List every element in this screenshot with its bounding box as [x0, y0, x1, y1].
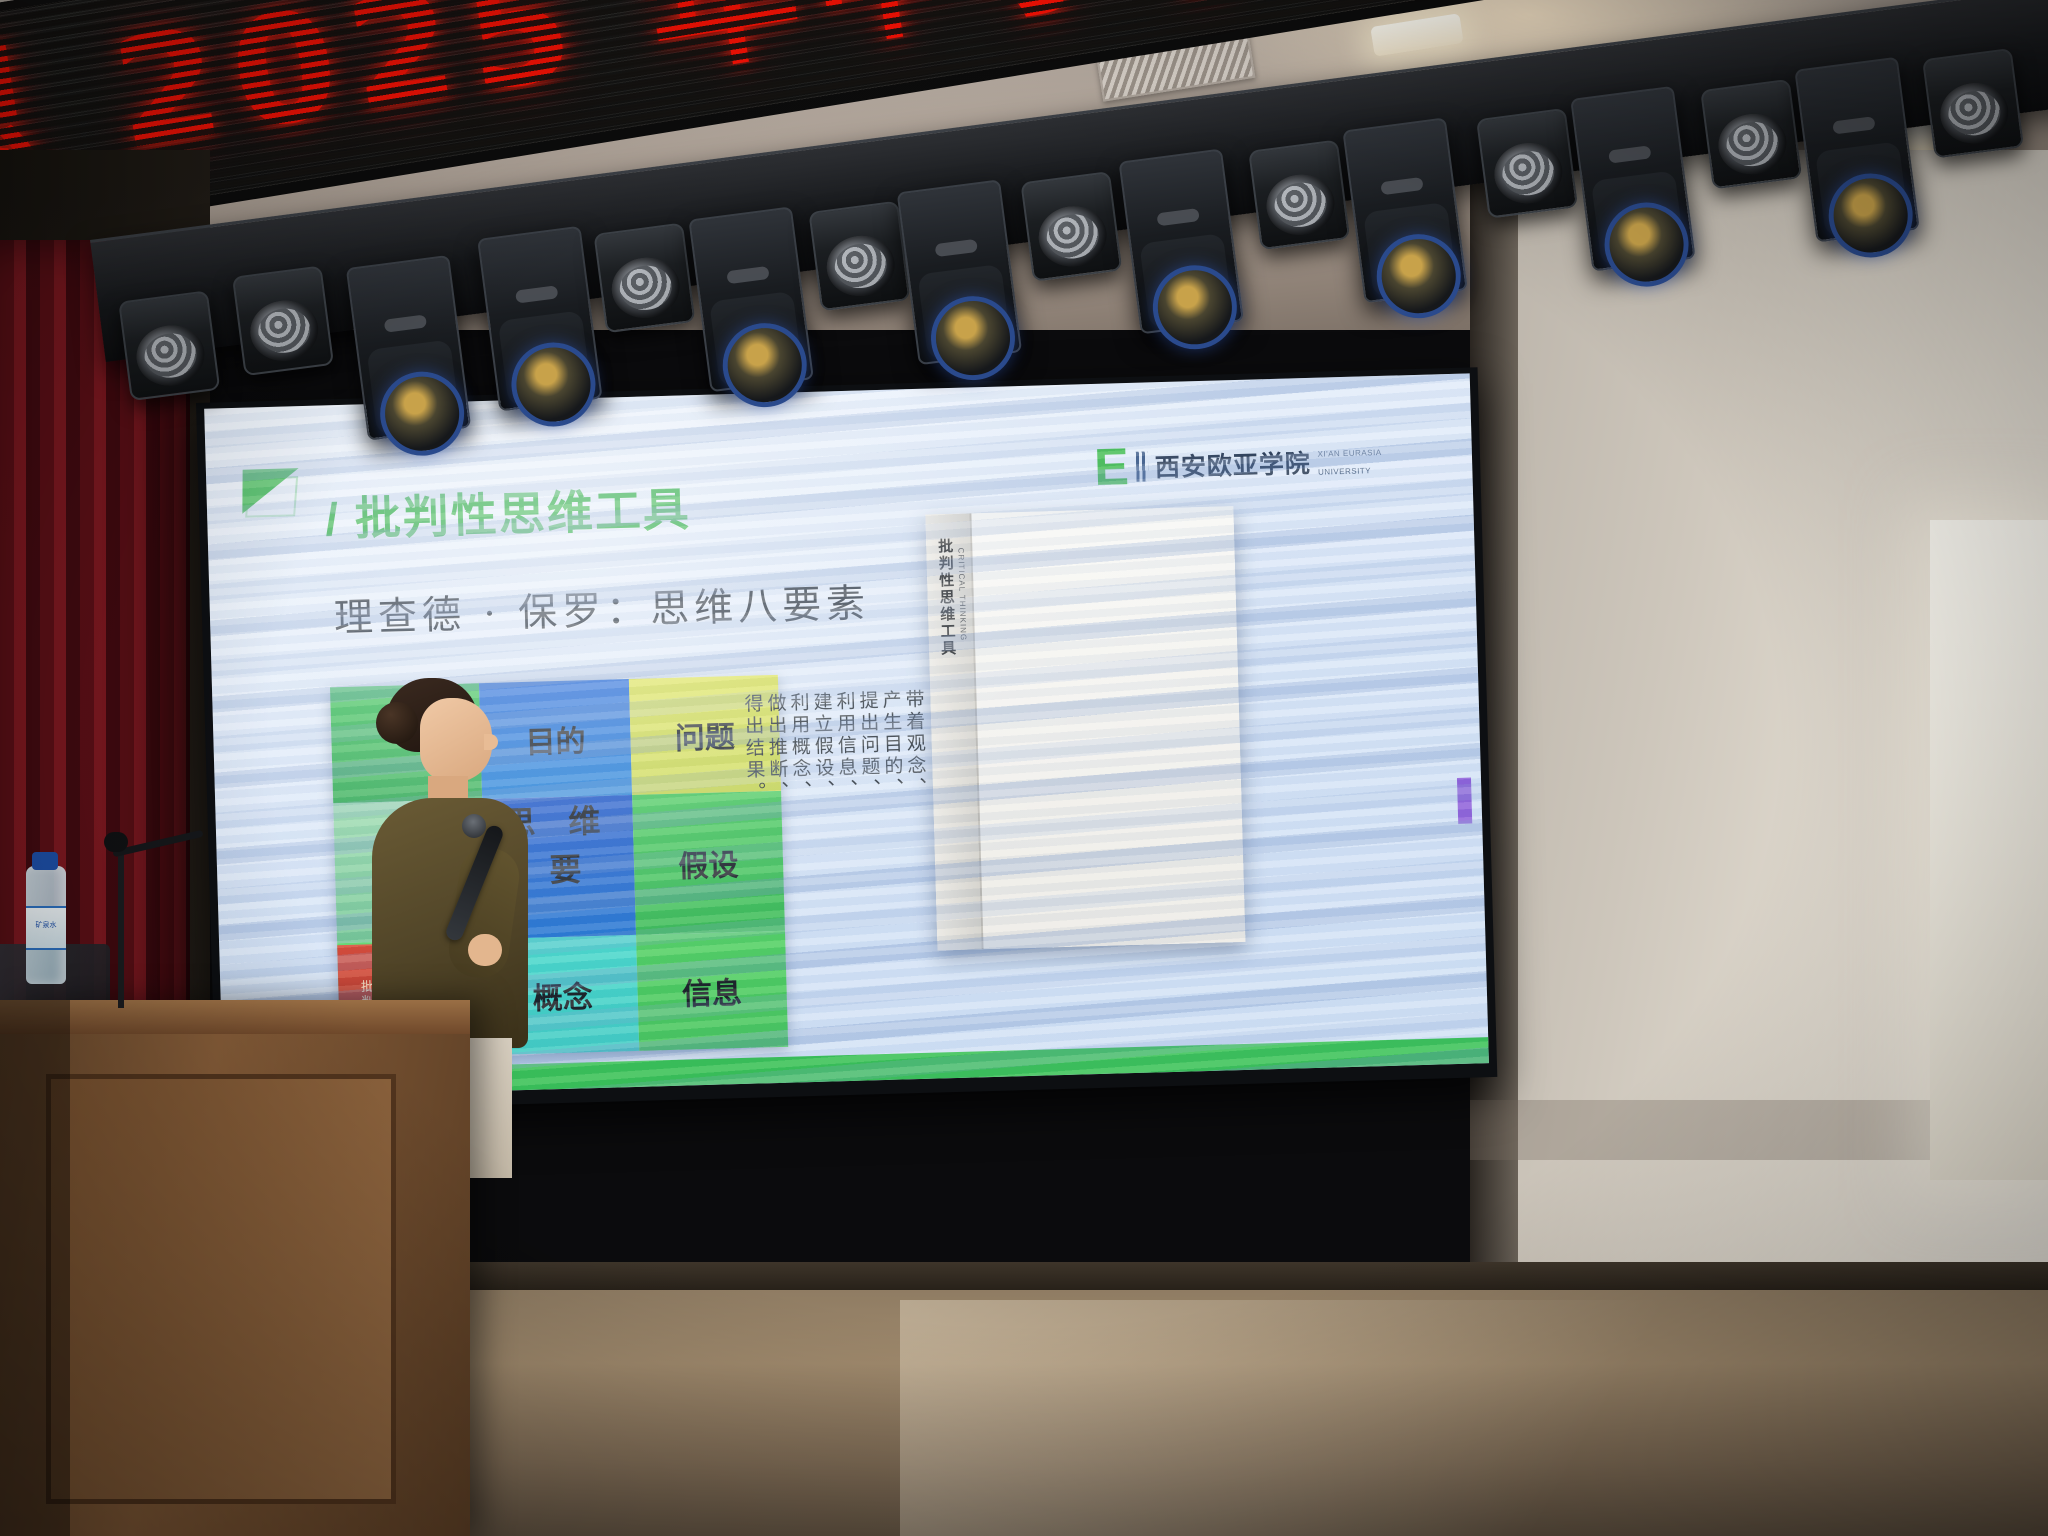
moving-head-light-icon — [897, 179, 1023, 365]
moving-head-light-icon — [1342, 117, 1468, 303]
podium-front-panel — [46, 1074, 396, 1504]
par-light-icon — [1922, 48, 2024, 159]
gooseneck-mic-stand — [118, 848, 124, 1008]
triangle-logo-icon — [242, 468, 298, 514]
title-separator: / — [325, 493, 341, 545]
podium-top-surface — [0, 1000, 470, 1034]
auditorium-scene: 思 2025 年中小学骨干教师教 / 批判性思维工具 E 西安欧亚学院 XI'A… — [0, 0, 2048, 1536]
floor-reflection — [900, 1300, 2048, 1536]
par-light-icon — [232, 265, 334, 376]
presenter-face — [420, 698, 492, 782]
podium-shadow — [0, 1000, 70, 1536]
logo-name-cn: 西安欧亚学院 — [1154, 444, 1311, 484]
par-light-icon — [1700, 79, 1802, 190]
moving-head-light-icon — [688, 206, 814, 392]
par-light-icon — [808, 201, 910, 312]
vertical-caption: 带着观念、 产生目的、 提出问题、 利用信息、 建立假设、 利用概念、 做出推断… — [804, 689, 934, 1042]
slide-title: / 批判性思维工具 — [324, 473, 691, 549]
moving-head-light-icon — [477, 226, 603, 412]
logo-bars-icon — [1135, 451, 1148, 481]
logo-name-en: XI'AN EURASIA UNIVERSITY — [1317, 442, 1382, 480]
par-light-icon — [1020, 171, 1122, 282]
window — [1930, 520, 2048, 1180]
par-light-icon — [1476, 108, 1578, 219]
presenter-hair-bun — [376, 702, 418, 744]
moving-head-light-icon — [1794, 57, 1920, 243]
book-spine-title: 批判性思维工具 — [934, 538, 958, 658]
bottle-label-text: 矿泉水 — [26, 920, 66, 930]
par-light-icon — [1248, 139, 1350, 250]
gooseneck-mic-head-icon — [104, 832, 128, 852]
presenter-hand — [468, 934, 502, 966]
logo-en-line1: XI'AN EURASIA — [1317, 448, 1381, 459]
title-text: 批判性思维工具 — [354, 483, 691, 544]
par-light-icon — [593, 223, 695, 334]
slide-subtitle: 理查德 · 保罗：思维八要素 — [333, 572, 871, 643]
moving-head-light-icon — [1119, 148, 1245, 334]
moving-head-light-icon — [346, 255, 472, 441]
par-light-icon — [118, 290, 220, 401]
moving-head-light-icon — [1570, 86, 1696, 272]
logo-en-line2: UNIVERSITY — [1318, 466, 1371, 476]
slide-purple-tab — [1457, 778, 1472, 824]
university-logo: E 西安欧亚学院 XI'AN EURASIA UNIVERSITY — [1094, 438, 1383, 490]
bottle-cap — [32, 852, 58, 870]
presenter-nose — [484, 734, 498, 750]
logo-mark-e: E — [1094, 445, 1130, 490]
bottle-label: 矿泉水 — [26, 906, 66, 950]
